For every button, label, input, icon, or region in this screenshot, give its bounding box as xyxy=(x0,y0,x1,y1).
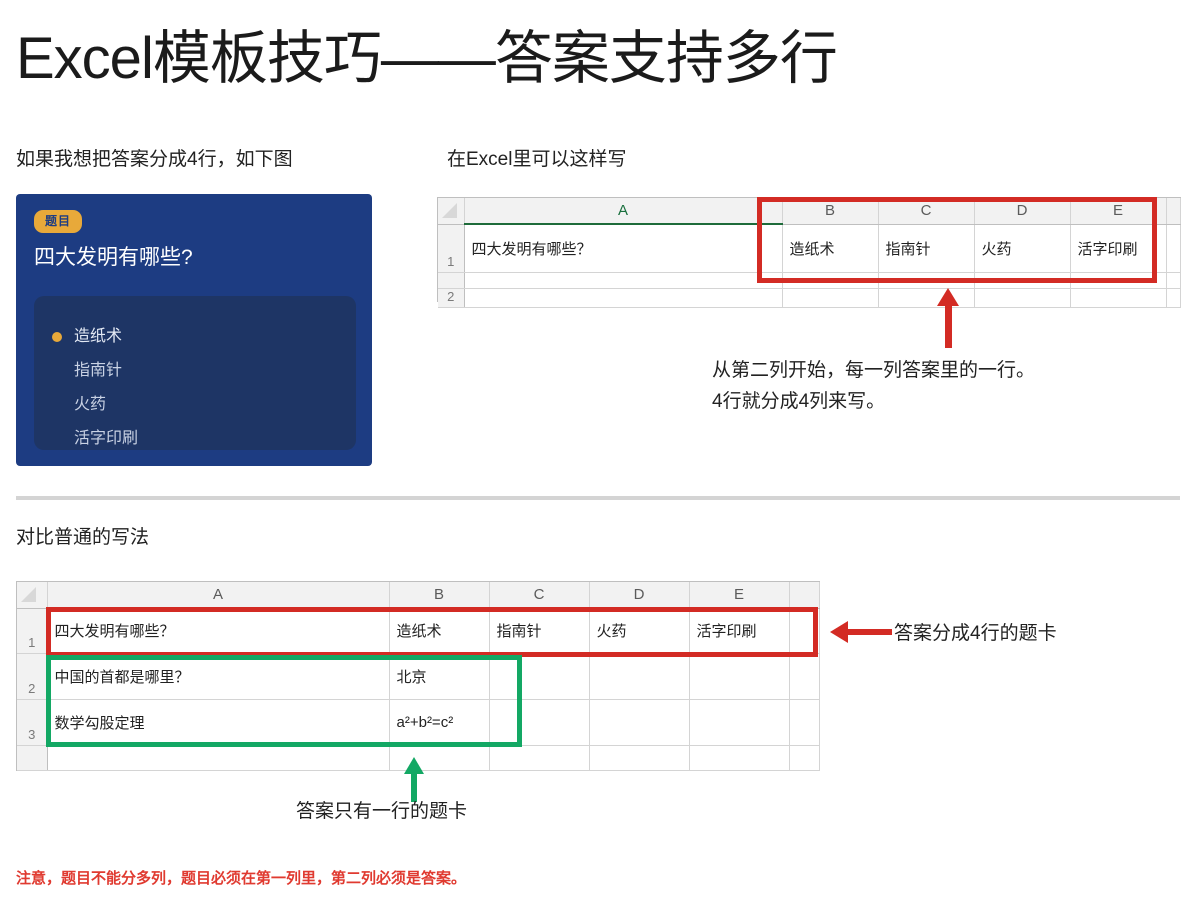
card-question-text: 四大发明有哪些? xyxy=(34,244,354,272)
column-header-a[interactable]: A xyxy=(47,582,389,608)
arrow-up-red-icon xyxy=(937,288,960,350)
table-row xyxy=(438,272,1181,288)
cell-e1[interactable]: 活字印刷 xyxy=(689,608,789,654)
annotation-columns-explain: 从第二列开始，每一列答案里的一行。 4行就分成4列来写。 xyxy=(712,355,1035,417)
cell-e3[interactable] xyxy=(689,699,789,745)
cell-a2[interactable]: 中国的首都是哪里？ xyxy=(47,654,389,700)
cell-a4[interactable] xyxy=(47,745,389,770)
cell-f1[interactable] xyxy=(1166,224,1181,272)
cell-c2[interactable] xyxy=(489,654,589,700)
table-row: 1 四大发明有哪些？ 造纸术 指南针 火药 活字印刷 xyxy=(17,608,820,654)
row-header-4[interactable] xyxy=(17,745,47,770)
column-header-e[interactable]: E xyxy=(1070,198,1166,224)
column-header-row: A B C D E xyxy=(438,198,1181,224)
cell-c3[interactable] xyxy=(489,699,589,745)
arrow-left-red-icon xyxy=(830,621,892,643)
cell-f-blank[interactable] xyxy=(1166,272,1181,288)
column-header-e[interactable]: E xyxy=(689,582,789,608)
cell-c-blank[interactable] xyxy=(878,272,974,288)
select-all-corner[interactable] xyxy=(438,198,464,224)
row-header-2[interactable]: 2 xyxy=(17,654,47,700)
cell-d2[interactable] xyxy=(974,288,1070,307)
question-card: 题目 四大发明有哪些? 造纸术 指南针 火药 活字印刷 xyxy=(16,194,372,466)
answer-line: 火药 xyxy=(52,390,338,420)
cell-b2[interactable] xyxy=(782,288,878,307)
column-header-row: A B C D E xyxy=(17,582,820,608)
bullet-dot-icon xyxy=(52,332,62,342)
column-header-b[interactable]: B xyxy=(389,582,489,608)
section-divider xyxy=(16,496,1180,500)
cell-f3[interactable] xyxy=(789,699,820,745)
footnote-warning: 注意，题目不能分多列，题目必须在第一列里，第二列必须是答案。 xyxy=(16,867,466,888)
column-header-c[interactable]: C xyxy=(878,198,974,224)
cell-b1[interactable]: 造纸术 xyxy=(782,224,878,272)
cell-e2[interactable] xyxy=(689,654,789,700)
caption-compare: 对比普通的写法 xyxy=(16,525,149,551)
cell-a-blank[interactable] xyxy=(464,272,782,288)
cell-a1[interactable]: 四大发明有哪些？ xyxy=(464,224,782,272)
cell-c1[interactable]: 指南针 xyxy=(489,608,589,654)
cell-d4[interactable] xyxy=(589,745,689,770)
answer-text: 活字印刷 xyxy=(74,424,138,454)
cell-e-blank[interactable] xyxy=(1070,272,1166,288)
answer-line: 造纸术 xyxy=(52,322,338,352)
answer-text: 火药 xyxy=(74,390,106,420)
annotation-line-2: 4行就分成4列来写。 xyxy=(712,386,1035,417)
answer-line: 指南针 xyxy=(52,356,338,386)
cell-e2[interactable] xyxy=(1070,288,1166,307)
answer-line: 活字印刷 xyxy=(52,424,338,454)
row-header-2[interactable]: 2 xyxy=(438,288,464,307)
column-header-f[interactable] xyxy=(1166,198,1181,224)
cell-f2[interactable] xyxy=(789,654,820,700)
answer-text: 造纸术 xyxy=(74,322,122,352)
page-title: Excel模板技巧——答案支持多行 xyxy=(16,22,837,96)
cell-a2[interactable] xyxy=(464,288,782,307)
select-all-corner[interactable] xyxy=(17,582,47,608)
annotation-single-row-card: 答案只有一行的题卡 xyxy=(296,796,467,827)
spreadsheet-top: A B C D E 1 四大发明有哪些？ 造纸术 指南针 火药 活字印刷 xyxy=(437,197,1181,302)
cell-a3[interactable]: 数学勾股定理 xyxy=(47,699,389,745)
table-row: 3 数学勾股定理 a²+b²=c² xyxy=(17,699,820,745)
caption-right: 在Excel里可以这样写 xyxy=(447,147,626,173)
table-row: 1 四大发明有哪些？ 造纸术 指南针 火药 活字印刷 xyxy=(438,224,1181,272)
row-header-1[interactable]: 1 xyxy=(17,608,47,654)
column-header-a[interactable]: A xyxy=(464,198,782,224)
spreadsheet-bottom-table: A B C D E 1 四大发明有哪些？ 造纸术 指南针 火药 活字印刷 xyxy=(17,582,820,771)
answer-text: 指南针 xyxy=(74,356,122,386)
cell-d3[interactable] xyxy=(589,699,689,745)
cell-e1[interactable]: 活字印刷 xyxy=(1070,224,1166,272)
cell-b-blank[interactable] xyxy=(782,272,878,288)
cell-f4[interactable] xyxy=(789,745,820,770)
card-answer-panel: 造纸术 指南针 火药 活字印刷 xyxy=(34,296,356,450)
annotation-four-row-card: 答案分成4行的题卡 xyxy=(894,618,1057,649)
cell-e4[interactable] xyxy=(689,745,789,770)
cell-d-blank[interactable] xyxy=(974,272,1070,288)
column-header-b[interactable]: B xyxy=(782,198,878,224)
table-row: 2 xyxy=(438,288,1181,307)
cell-c1[interactable]: 指南针 xyxy=(878,224,974,272)
row-header-3[interactable]: 3 xyxy=(17,699,47,745)
cell-d1[interactable]: 火药 xyxy=(974,224,1070,272)
caption-left: 如果我想把答案分成4行，如下图 xyxy=(16,147,293,173)
cell-f2[interactable] xyxy=(1166,288,1181,307)
column-header-d[interactable]: D xyxy=(589,582,689,608)
cell-b2[interactable]: 北京 xyxy=(389,654,489,700)
cell-c4[interactable] xyxy=(489,745,589,770)
row-header-spacer[interactable] xyxy=(438,272,464,288)
cell-d1[interactable]: 火药 xyxy=(589,608,689,654)
column-header-d[interactable]: D xyxy=(974,198,1070,224)
cell-b1[interactable]: 造纸术 xyxy=(389,608,489,654)
column-header-f[interactable] xyxy=(789,582,820,608)
column-header-c[interactable]: C xyxy=(489,582,589,608)
annotation-line-1: 从第二列开始，每一列答案里的一行。 xyxy=(712,355,1035,386)
row-header-1[interactable]: 1 xyxy=(438,224,464,272)
cell-f1[interactable] xyxy=(789,608,820,654)
cell-d2[interactable] xyxy=(589,654,689,700)
cell-a1[interactable]: 四大发明有哪些？ xyxy=(47,608,389,654)
cell-b3[interactable]: a²+b²=c² xyxy=(389,699,489,745)
status-badge: 题目 xyxy=(34,210,82,233)
slide-canvas: Excel模板技巧——答案支持多行 如果我想把答案分成4行，如下图 在Excel… xyxy=(0,0,1195,921)
spreadsheet-top-table: A B C D E 1 四大发明有哪些？ 造纸术 指南针 火药 活字印刷 xyxy=(438,198,1181,308)
table-row: 2 中国的首都是哪里？ 北京 xyxy=(17,654,820,700)
spreadsheet-bottom: A B C D E 1 四大发明有哪些？ 造纸术 指南针 火药 活字印刷 xyxy=(16,581,820,771)
